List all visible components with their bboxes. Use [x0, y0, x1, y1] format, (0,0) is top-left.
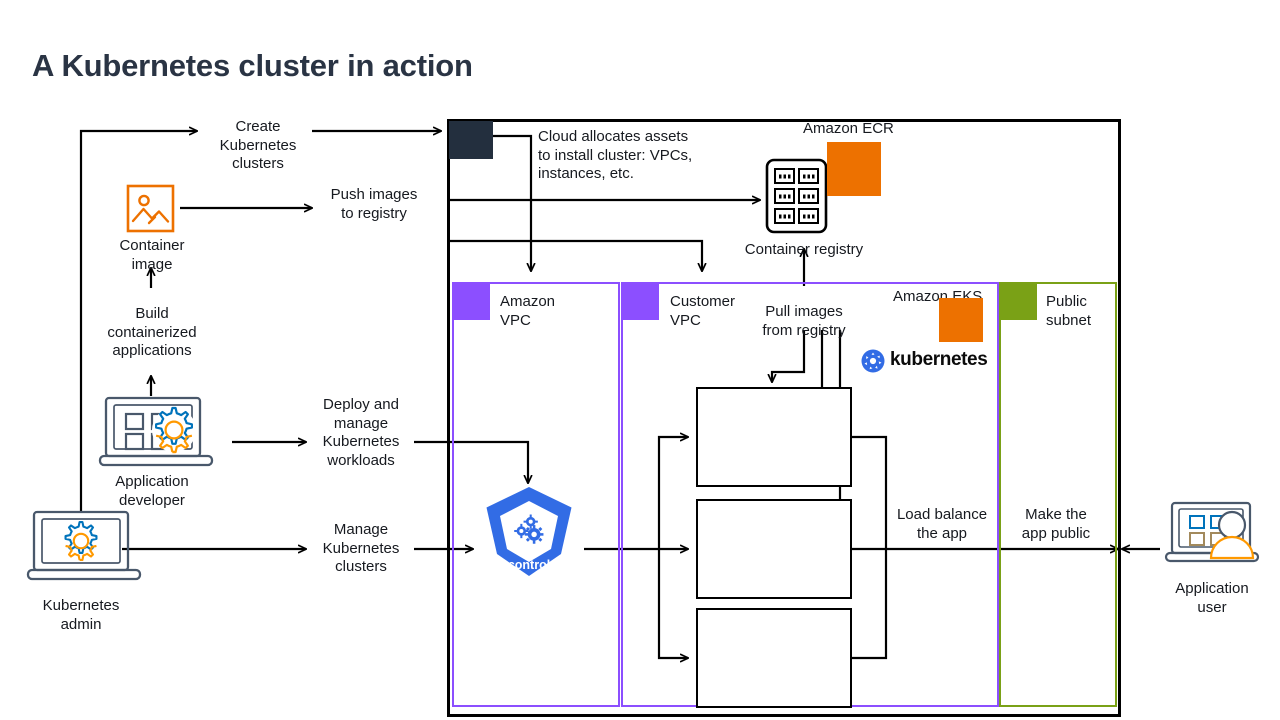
- node-box: [696, 499, 852, 599]
- pull-images-label: Pull images from registry: [747, 303, 861, 340]
- control-plane-line2: plane: [474, 572, 584, 586]
- public-subnet-label: Public subnet: [1046, 293, 1091, 330]
- container-registry-label: Container registry: [714, 241, 894, 260]
- public-subnet-box: [999, 282, 1117, 707]
- application-user-label: Application user: [1156, 580, 1268, 617]
- vpc-icon: [623, 284, 659, 320]
- container-image-label: Container image: [96, 237, 208, 274]
- deploy-manage-label: Deploy and manage Kubernetes workloads: [305, 396, 417, 470]
- kubernetes-wordmark: kubernetes: [890, 349, 987, 371]
- push-images-label: Push images to registry: [318, 186, 430, 223]
- laptop-gear-icon: [28, 512, 140, 579]
- node-box: [696, 387, 852, 487]
- vpc-icon: [454, 284, 490, 320]
- cloud-icon: [449, 121, 493, 159]
- cloud-allocates-label: Cloud allocates assets to install cluste…: [538, 128, 738, 184]
- create-clusters-label: Create Kubernetes clusters: [203, 118, 313, 174]
- amazon-vpc-label: Amazon VPC: [500, 293, 555, 330]
- build-containerized-label: Build containerized applications: [85, 305, 219, 361]
- eks-icon: [939, 298, 983, 342]
- control-plane-label: control plane: [474, 558, 584, 586]
- laptop-user-icon: [1166, 503, 1258, 561]
- kubernetes-admin-label: Kubernetes admin: [25, 597, 137, 634]
- customer-vpc-label: Customer VPC: [670, 293, 735, 330]
- page-title: A Kubernetes cluster in action: [32, 48, 473, 84]
- ecr-icon: [827, 142, 881, 196]
- control-plane-line1: control: [474, 558, 584, 572]
- node-box: [696, 608, 852, 708]
- load-balance-label: Load balance the app: [888, 506, 996, 543]
- image-icon: [128, 186, 173, 231]
- application-developer-label: Application developer: [96, 473, 208, 510]
- amazon-ecr-title: Amazon ECR: [803, 120, 894, 139]
- manage-clusters-label: Manage Kubernetes clusters: [305, 521, 417, 577]
- lock-icon: [1001, 284, 1037, 320]
- make-public-label: Make the app public: [1002, 506, 1110, 543]
- amazon-vpc-box: [452, 282, 620, 707]
- laptop-gear-icon: [100, 398, 212, 465]
